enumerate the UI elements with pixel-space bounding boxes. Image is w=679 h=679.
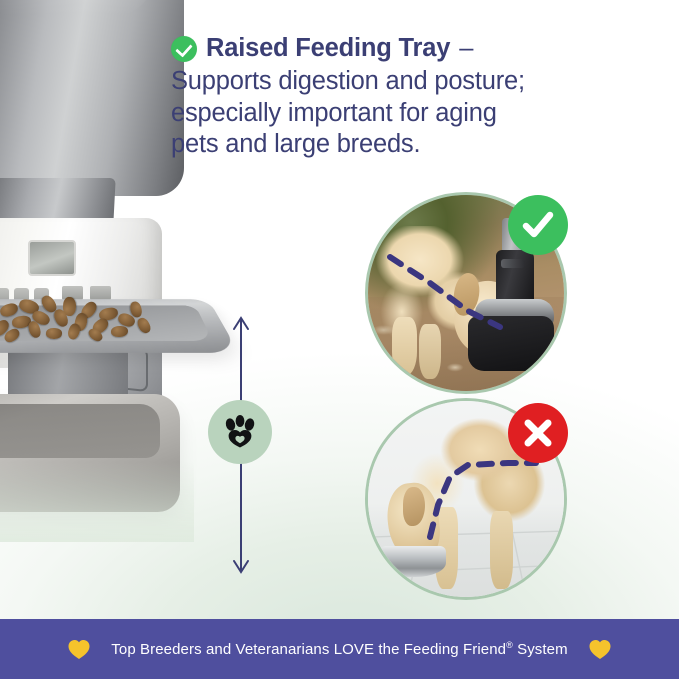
yellow-heart-icon xyxy=(67,638,91,660)
registered-mark: ® xyxy=(506,640,513,650)
headline-title: Raised Feeding Tray xyxy=(206,33,450,64)
headline-dash: – xyxy=(459,33,473,64)
infographic-canvas: Raised Feeding Tray – Supports digestion… xyxy=(0,0,679,679)
yellow-heart-icon xyxy=(588,638,612,660)
headline-body-line-2: especially important for aging xyxy=(171,98,601,130)
lcd-display xyxy=(28,240,76,276)
feeder-hopper xyxy=(0,0,184,196)
paw-badge xyxy=(208,400,272,464)
banner-text: Top Breeders and Veteranarians LOVE the … xyxy=(111,640,567,658)
banner-text-after: System xyxy=(513,641,568,658)
check-glyph xyxy=(521,208,555,242)
headline-block: Raised Feeding Tray – Supports digestion… xyxy=(171,33,601,161)
banner-text-before: Top Breeders and Veteranarians LOVE the … xyxy=(111,641,506,658)
x-glyph xyxy=(522,417,554,449)
red-x-circle-icon xyxy=(508,403,568,463)
headline-title-row: Raised Feeding Tray – xyxy=(171,33,601,64)
headline-body-line-1: Supports digestion and posture; xyxy=(171,66,601,98)
bottom-banner: Top Breeders and Veteranarians LOVE the … xyxy=(0,619,679,679)
kibble-pile xyxy=(0,288,206,346)
photo-fade-overlay xyxy=(0,462,194,542)
headline-body: Supports digestion and posture; especial… xyxy=(171,66,601,161)
green-check-circle-icon xyxy=(508,195,568,255)
green-check-circle-icon xyxy=(171,36,197,62)
headline-body-line-3: pets and large breeds. xyxy=(171,129,601,161)
paw-print-heart-icon xyxy=(221,414,259,450)
